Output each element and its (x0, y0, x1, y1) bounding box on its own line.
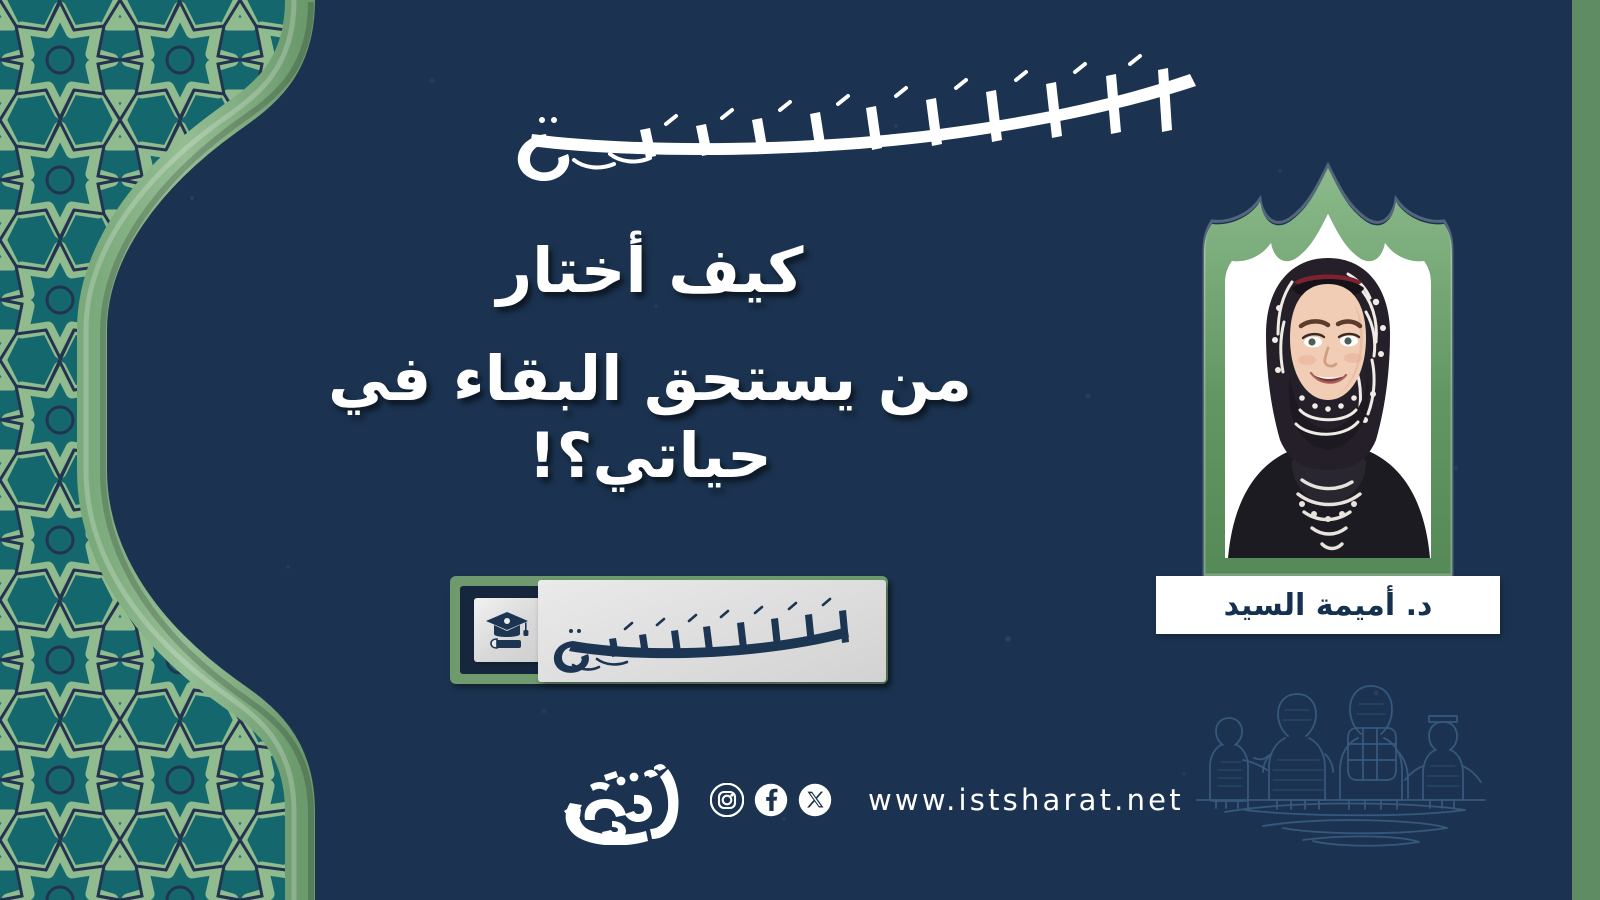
header-calligraphy-text: بوابة الاستشارات الإلكترونية (844, 173, 857, 175)
graduation-cap-icon (474, 598, 540, 662)
instagram-icon[interactable] (710, 783, 744, 817)
speaker-name-plate: د. أميمة السيد (1156, 576, 1500, 634)
speaker-card: د. أميمة السيد (1152, 162, 1504, 634)
family-line-art (1185, 650, 1515, 880)
islamic-arch-frame (1152, 162, 1504, 634)
badge-plaque: استشارات تربوية (538, 580, 886, 682)
website-url[interactable]: www.istsharat.net (868, 783, 1184, 817)
x-twitter-icon[interactable] (798, 783, 832, 817)
speaker-name: د. أميمة السيد (1224, 588, 1433, 623)
category-badge[interactable]: استشارات تربوية (450, 572, 890, 690)
headline-block: كيف أختار من يستحق البقاء في حياتي؟! (200, 232, 1100, 495)
facebook-icon[interactable] (754, 783, 788, 817)
right-edge-strip (1572, 0, 1600, 900)
badge-calligraphy (547, 585, 877, 677)
al-mujtama-logo[interactable]: المجتمع (560, 755, 692, 845)
social-links (710, 783, 832, 817)
headline-line-1: كيف أختار (200, 232, 1100, 310)
header-calligraphy: بوابة الاستشارات الإلكترونية (490, 42, 1210, 182)
poster-canvas: بوابة الاستشارات الإلكترونية كيف أختار م… (0, 0, 1600, 900)
headline-line-2: من يستحق البقاء في حياتي؟! (200, 340, 1100, 495)
footer-bar: المجتمع (560, 752, 1200, 848)
